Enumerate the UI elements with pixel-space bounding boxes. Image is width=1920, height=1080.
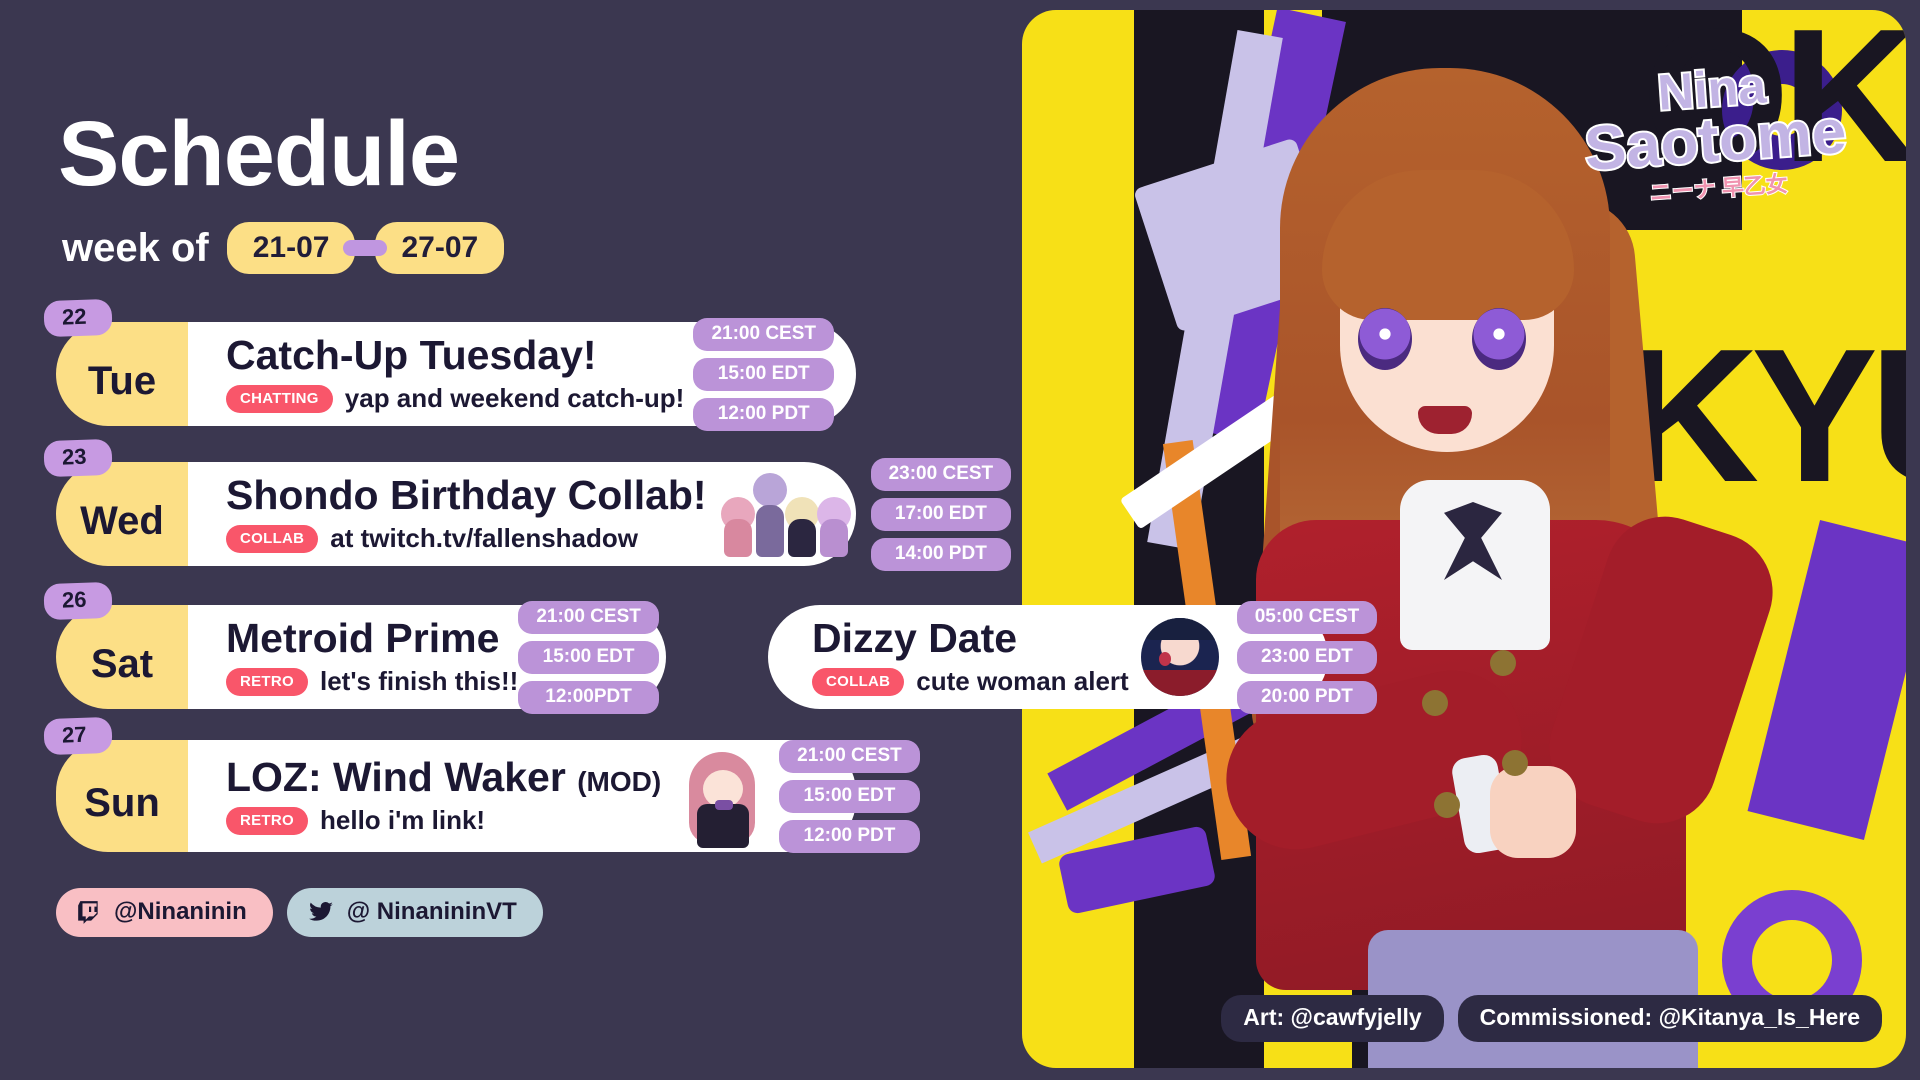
schedule-row[interactable]: 27 Sun LOZ: Wind Waker (MOD) RETRO hello… bbox=[56, 740, 856, 852]
time-edt: 15:00 EDT bbox=[693, 358, 834, 391]
time-list: 21:00 CEST 15:00 EDT 12:00 PDT bbox=[779, 740, 920, 853]
twitter-handle: @ NinanininVT bbox=[347, 898, 517, 926]
stream-description: cute woman alert bbox=[916, 666, 1128, 697]
twitter-icon bbox=[307, 899, 335, 925]
time-edt: 17:00 EDT bbox=[871, 498, 1012, 531]
time-cest: 23:00 CEST bbox=[871, 458, 1012, 491]
schedule-row[interactable]: 23 Wed Shondo Birthday Collab! COLLAB at… bbox=[56, 462, 856, 566]
category-tag: COLLAB bbox=[226, 525, 318, 553]
twitter-link[interactable]: @ NinanininVT bbox=[287, 888, 543, 937]
day-badge: 27 Sun bbox=[56, 740, 188, 852]
stream-title: Metroid Prime bbox=[226, 617, 518, 660]
time-list: 23:00 CEST 17:00 EDT 14:00 PDT bbox=[871, 458, 1012, 571]
stream-title-main: LOZ: Wind Waker bbox=[226, 754, 566, 800]
stream-description: yap and weekend catch-up! bbox=[345, 383, 685, 414]
stream-title-suffix: (MOD) bbox=[577, 766, 661, 797]
category-tag: COLLAB bbox=[812, 668, 904, 696]
twitch-link[interactable]: @Ninaninin bbox=[56, 888, 273, 937]
day-badge: 22 Tue bbox=[56, 322, 188, 426]
week-end-pill: 27-07 bbox=[375, 222, 504, 274]
stream-title: LOZ: Wind Waker (MOD) bbox=[226, 756, 661, 799]
week-start-pill: 21-07 bbox=[227, 222, 356, 274]
twitch-icon bbox=[76, 899, 102, 925]
stream-description: hello i'm link! bbox=[320, 805, 485, 836]
art-credit[interactable]: Art: @cawfyjelly bbox=[1221, 995, 1443, 1042]
commission-credit[interactable]: Commissioned: @Kitanya_Is_Here bbox=[1458, 995, 1882, 1042]
schedule-row[interactable]: 26 Sat Metroid Prime RETRO let's finish … bbox=[56, 605, 666, 709]
avatar bbox=[1141, 618, 1219, 696]
date-number: 22 bbox=[43, 299, 113, 337]
day-name: Tue bbox=[88, 345, 156, 404]
day-badge: 26 Sat bbox=[56, 605, 188, 709]
credits-bar: Art: @cawfyjelly Commissioned: @Kitanya_… bbox=[1221, 995, 1882, 1042]
date-connector-icon bbox=[343, 240, 387, 256]
category-tag: RETRO bbox=[226, 668, 308, 696]
day-name: Sat bbox=[91, 628, 153, 687]
schedule-row[interactable]: 22 Tue Catch-Up Tuesday! CHATTING yap an… bbox=[56, 322, 856, 426]
time-cest: 21:00 CEST bbox=[693, 318, 834, 351]
stream-card[interactable]: Dizzy Date COLLAB cute woman alert 05:00… bbox=[768, 605, 1328, 709]
schedule-row-overlap[interactable]: Dizzy Date COLLAB cute woman alert 05:00… bbox=[768, 605, 1328, 709]
artwork-panel: OKYU KYU Nina bbox=[1022, 10, 1906, 1068]
chibi-pink-icon bbox=[667, 744, 779, 848]
stream-title: Catch-Up Tuesday! bbox=[226, 334, 684, 377]
time-cest: 05:00 CEST bbox=[1237, 601, 1378, 634]
time-edt: 23:00 EDT bbox=[1237, 641, 1378, 674]
date-number: 26 bbox=[43, 582, 113, 620]
category-tag: RETRO bbox=[226, 807, 308, 835]
time-pdt: 12:00 PDT bbox=[693, 398, 834, 431]
schedule-panel: Schedule week of 21-07 27-07 22 Tue Catc… bbox=[0, 0, 1060, 1080]
time-pdt: 12:00PDT bbox=[518, 681, 659, 714]
schedule-graphic: Schedule week of 21-07 27-07 22 Tue Catc… bbox=[0, 0, 1920, 1080]
date-number: 23 bbox=[43, 439, 113, 477]
time-pdt: 14:00 PDT bbox=[871, 538, 1012, 571]
stream-card[interactable]: LOZ: Wind Waker (MOD) RETRO hello i'm li… bbox=[188, 740, 856, 852]
stream-card[interactable]: Catch-Up Tuesday! CHATTING yap and weeke… bbox=[188, 322, 856, 426]
social-links: @Ninaninin @ NinanininVT bbox=[56, 888, 543, 937]
week-range: week of 21-07 27-07 bbox=[62, 222, 504, 274]
day-name: Sun bbox=[84, 767, 160, 826]
time-edt: 15:00 EDT bbox=[779, 780, 920, 813]
time-list: 05:00 CEST 23:00 EDT 20:00 PDT bbox=[1237, 601, 1378, 714]
time-edt: 15:00 EDT bbox=[518, 641, 659, 674]
day-badge: 23 Wed bbox=[56, 462, 188, 566]
day-name: Wed bbox=[80, 485, 164, 544]
time-list: 21:00 CEST 15:00 EDT 12:00 PDT bbox=[693, 318, 834, 431]
twitch-handle: @Ninaninin bbox=[114, 898, 247, 926]
stream-card[interactable]: Metroid Prime RETRO let's finish this!! … bbox=[188, 605, 666, 709]
stream-title: Shondo Birthday Collab! bbox=[226, 474, 707, 517]
time-list: 21:00 CEST 15:00 EDT 12:00PDT bbox=[518, 601, 659, 714]
stream-description: at twitch.tv/fallenshadow bbox=[330, 523, 638, 554]
week-of-label: week of bbox=[62, 226, 209, 271]
time-pdt: 12:00 PDT bbox=[779, 820, 920, 853]
category-tag: CHATTING bbox=[226, 385, 333, 413]
time-cest: 21:00 CEST bbox=[518, 601, 659, 634]
time-pdt: 20:00 PDT bbox=[1237, 681, 1378, 714]
date-number: 27 bbox=[43, 717, 113, 755]
stream-description: let's finish this!! bbox=[320, 666, 518, 697]
time-cest: 21:00 CEST bbox=[779, 740, 920, 773]
channel-logo: Nina Saotome ニーナ 早乙女 bbox=[1546, 55, 1885, 215]
stream-card[interactable]: Shondo Birthday Collab! COLLAB at twitch… bbox=[188, 462, 856, 566]
stream-title: Dizzy Date bbox=[812, 617, 1129, 660]
page-title: Schedule bbox=[58, 108, 459, 200]
chibi-group-icon bbox=[717, 471, 855, 557]
